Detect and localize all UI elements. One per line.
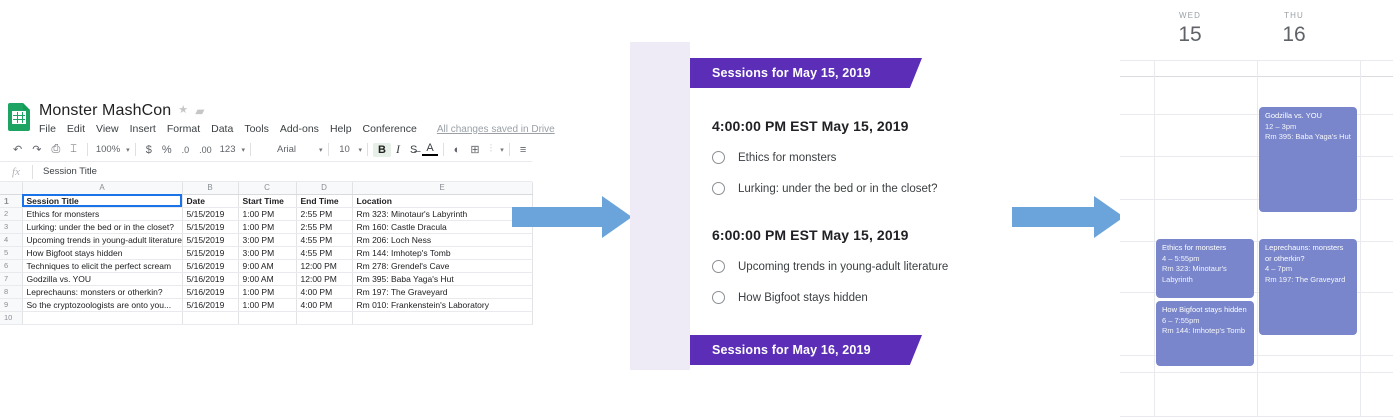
- cell-e3[interactable]: Rm 160: Castle Dracula: [352, 220, 532, 233]
- cell-e2[interactable]: Rm 323: Minotaur's Labyrinth: [352, 207, 532, 220]
- column-header-e[interactable]: E: [352, 182, 532, 194]
- font-size-select[interactable]: 10: [334, 140, 356, 160]
- cell-c6[interactable]: 9:00 AM: [238, 259, 296, 272]
- event-location: Rm 395: Baba Yaga's Hut: [1265, 132, 1352, 143]
- font-size-chevron-down-icon[interactable]: ▾: [359, 146, 363, 154]
- menu-bar: File Edit View Insert Format Data Tools …: [39, 123, 532, 135]
- merge-cells-icon[interactable]: ⫶: [485, 140, 498, 160]
- cell-e4[interactable]: Rm 206: Loch Ness: [352, 233, 532, 246]
- number-format-chevron-down-icon[interactable]: ▾: [241, 146, 245, 154]
- arrow-form-to-calendar: [1012, 196, 1124, 238]
- menu-item-conference[interactable]: Conference: [363, 123, 417, 135]
- cell-d7[interactable]: 12:00 PM: [296, 272, 352, 285]
- cell-a2[interactable]: Ethics for monsters: [22, 207, 182, 220]
- grid-line: [1257, 60, 1258, 417]
- text-color-button[interactable]: A: [422, 143, 437, 156]
- cell-a4[interactable]: Upcoming trends in young-adult literatur…: [22, 233, 182, 246]
- column-header-c[interactable]: C: [238, 182, 296, 194]
- align-icon[interactable]: ≡: [515, 140, 531, 160]
- cell-b2[interactable]: 5/15/2019: [182, 207, 238, 220]
- table-row: 9 So the cryptozoologists are onto you..…: [0, 298, 532, 311]
- row-number[interactable]: 7: [0, 272, 22, 285]
- row-number[interactable]: 1: [0, 194, 22, 207]
- table-row: 6 Techniques to elicit the perfect screa…: [0, 259, 532, 272]
- menu-item-insert[interactable]: Insert: [130, 123, 156, 135]
- event-time: 4 – 5:55pm: [1162, 254, 1249, 265]
- cell-c5[interactable]: 3:00 PM: [238, 246, 296, 259]
- form-option-3[interactable]: Upcoming trends in young-adult literatur…: [690, 260, 1020, 273]
- cell-e9[interactable]: Rm 010: Frankenstein's Laboratory: [352, 298, 532, 311]
- event-title: Ethics for monsters: [1162, 243, 1249, 254]
- menu-item-format[interactable]: Format: [167, 123, 200, 135]
- cell-d10[interactable]: [296, 311, 352, 324]
- time-slot-heading-2: 6:00:00 PM EST May 15, 2019: [690, 227, 1020, 243]
- cell-c2[interactable]: 1:00 PM: [238, 207, 296, 220]
- row-number[interactable]: 4: [0, 233, 22, 246]
- cell-a8[interactable]: Leprechauns: monsters or otherkin?: [22, 285, 182, 298]
- form-option-1[interactable]: Ethics for monsters: [690, 151, 1020, 164]
- cell-c9[interactable]: 1:00 PM: [238, 298, 296, 311]
- cell-e8[interactable]: Rm 197: The Graveyard: [352, 285, 532, 298]
- form-card: Sessions for May 15, 2019 4:00:00 PM EST…: [690, 42, 1020, 370]
- row-number[interactable]: 6: [0, 259, 22, 272]
- function-icon[interactable]: fx: [0, 166, 32, 178]
- spreadsheet-grid: A B C D E 1 Session Title Date Start Tim…: [0, 182, 532, 325]
- cell-e10[interactable]: [352, 311, 532, 324]
- cell-b3[interactable]: 5/15/2019: [182, 220, 238, 233]
- cell-c8[interactable]: 1:00 PM: [238, 285, 296, 298]
- grid-line: [1360, 60, 1361, 417]
- form-option-4[interactable]: How Bigfoot stays hidden: [690, 291, 1020, 304]
- event-title: How Bigfoot stays hidden: [1162, 305, 1249, 316]
- toolbar-divider-5: [367, 143, 368, 156]
- section-banner-may-15: Sessions for May 15, 2019: [690, 58, 900, 88]
- toolbar-divider-7: [509, 143, 510, 156]
- formula-input[interactable]: Session Title: [33, 166, 97, 177]
- corner-select-all[interactable]: [0, 182, 22, 194]
- section-banner-may-16: Sessions for May 16, 2019: [690, 335, 900, 365]
- cell-d9[interactable]: 4:00 PM: [296, 298, 352, 311]
- calendar-event-godzilla[interactable]: Godzilla vs. YOU 12 – 3pm Rm 395: Baba Y…: [1259, 107, 1357, 212]
- form-option-label: How Bigfoot stays hidden: [738, 292, 868, 304]
- cell-e5[interactable]: Rm 144: Imhotep's Tomb: [352, 246, 532, 259]
- cell-d4[interactable]: 4:55 PM: [296, 233, 352, 246]
- menu-item-help[interactable]: Help: [330, 123, 352, 135]
- form-side-strip: [630, 42, 690, 370]
- google-sheets-panel: Monster MashCon ★ ▰ File Edit View Inser…: [0, 95, 532, 317]
- event-location: Rm 323: Minotaur's Labyrinth: [1162, 264, 1249, 285]
- google-calendar-panel: WED 15 THU 16 Godzilla vs. YOU 12 – 3pm …: [1120, 0, 1393, 417]
- event-location: Rm 144: Imhotep's Tomb: [1162, 326, 1249, 337]
- document-title[interactable]: Monster MashCon: [39, 101, 171, 120]
- cell-d3[interactable]: 2:55 PM: [296, 220, 352, 233]
- star-icon[interactable]: ★: [178, 105, 188, 116]
- increase-decimal-button[interactable]: .00: [194, 140, 217, 160]
- radio-button-icon[interactable]: [712, 260, 725, 273]
- zoom-select[interactable]: 100%: [93, 140, 123, 160]
- column-header-a[interactable]: A: [22, 182, 182, 194]
- redo-icon[interactable]: ↷: [27, 140, 46, 160]
- column-header-row: A B C D E: [0, 182, 532, 194]
- event-title: Godzilla vs. YOU: [1265, 111, 1352, 122]
- calendar-event-bigfoot[interactable]: How Bigfoot stays hidden 6 – 7:55pm Rm 1…: [1156, 301, 1254, 366]
- row-number[interactable]: 9: [0, 298, 22, 311]
- cell-a10[interactable]: [22, 311, 182, 324]
- cell-c4[interactable]: 3:00 PM: [238, 233, 296, 246]
- table-row: 10: [0, 311, 532, 324]
- menu-item-data[interactable]: Data: [211, 123, 233, 135]
- column-header-d[interactable]: D: [296, 182, 352, 194]
- calendar-day-name-thu: THU: [1264, 11, 1324, 20]
- font-family-select[interactable]: Arial: [256, 140, 316, 160]
- menu-item-edit[interactable]: Edit: [67, 123, 85, 135]
- calendar-grid: Godzilla vs. YOU 12 – 3pm Rm 395: Baba Y…: [1120, 60, 1393, 417]
- form-option-2[interactable]: Lurking: under the bed or in the closet?: [690, 182, 1020, 195]
- number-format-select[interactable]: 123: [217, 140, 239, 160]
- folder-icon[interactable]: ▰: [195, 105, 204, 117]
- google-form-panel: Sessions for May 15, 2019 4:00:00 PM EST…: [630, 42, 1020, 370]
- cell-a7[interactable]: Godzilla vs. YOU: [22, 272, 182, 285]
- section-banner-label: Sessions for May 15, 2019: [712, 66, 871, 80]
- menu-item-file[interactable]: File: [39, 123, 56, 135]
- toolbar-divider-6: [443, 143, 444, 156]
- calendar-event-leprechauns[interactable]: Leprechauns: monsters or otherkin? 4 – 7…: [1259, 239, 1357, 335]
- row-number[interactable]: 3: [0, 220, 22, 233]
- toolbar-divider-4: [328, 143, 329, 156]
- cell-b5[interactable]: 5/15/2019: [182, 246, 238, 259]
- document-title-row: Monster MashCon ★ ▰: [39, 101, 532, 120]
- formula-bar: fx Session Title: [0, 161, 532, 182]
- radio-button-icon[interactable]: [712, 182, 725, 195]
- cell-e6[interactable]: Rm 278: Grendel's Cave: [352, 259, 532, 272]
- cell-c7[interactable]: 9:00 AM: [238, 272, 296, 285]
- row-number[interactable]: 10: [0, 311, 22, 324]
- sheets-title-bar: Monster MashCon ★ ▰ File Edit View Inser…: [0, 95, 532, 139]
- calendar-day-number-16[interactable]: 16: [1264, 23, 1324, 47]
- cell-c3[interactable]: 1:00 PM: [238, 220, 296, 233]
- arrow-sheets-to-form: [512, 196, 632, 238]
- cell-a9[interactable]: So the cryptozoologists are onto you...: [22, 298, 182, 311]
- menu-item-addons[interactable]: Add-ons: [280, 123, 319, 135]
- column-header-b[interactable]: B: [182, 182, 238, 194]
- cell-a5[interactable]: How Bigfoot stays hidden: [22, 246, 182, 259]
- event-time: 6 – 7:55pm: [1162, 316, 1249, 327]
- time-slot-heading-1: 4:00:00 PM EST May 15, 2019: [690, 118, 1020, 134]
- bold-button[interactable]: B: [373, 143, 391, 157]
- row-number[interactable]: 2: [0, 207, 22, 220]
- event-location: Rm 197: The Graveyard: [1265, 275, 1352, 286]
- menu-item-tools[interactable]: Tools: [244, 123, 269, 135]
- calendar-day-number-15[interactable]: 15: [1160, 23, 1220, 47]
- radio-button-icon[interactable]: [712, 151, 725, 164]
- italic-button[interactable]: I: [391, 142, 405, 157]
- table-row: 4 Upcoming trends in young-adult literat…: [0, 233, 532, 246]
- decrease-decimal-button[interactable]: .0: [177, 140, 195, 160]
- calendar-day-name-wed: WED: [1160, 11, 1220, 20]
- cell-c10[interactable]: [238, 311, 296, 324]
- calendar-event-ethics[interactable]: Ethics for monsters 4 – 5:55pm Rm 323: M…: [1156, 239, 1254, 298]
- cell-b10[interactable]: [182, 311, 238, 324]
- toolbar-divider-3: [250, 143, 251, 156]
- cell-a3[interactable]: Lurking: under the bed or in the closet?: [22, 220, 182, 233]
- section-banner-label: Sessions for May 16, 2019: [712, 343, 871, 357]
- cell-d5[interactable]: 4:55 PM: [296, 246, 352, 259]
- event-title: Leprechauns: monsters or otherkin?: [1265, 243, 1352, 264]
- table-row: 3 Lurking: under the bed or in the close…: [0, 220, 532, 233]
- radio-button-icon[interactable]: [712, 291, 725, 304]
- cell-c1[interactable]: Start Time: [238, 194, 296, 207]
- cell-a1[interactable]: Session Title: [22, 194, 182, 207]
- row-number[interactable]: 8: [0, 285, 22, 298]
- sheets-toolbar: ↶ ↷ ⎙ ⌶ 100% ▾ $ % .0 .00 123 ▾ Arial ▾ …: [0, 139, 532, 161]
- cell-a6[interactable]: Techniques to elicit the perfect scream: [22, 259, 182, 272]
- currency-format-button[interactable]: $: [141, 140, 157, 160]
- save-status-link[interactable]: All changes saved in Drive: [437, 124, 555, 135]
- toolbar-divider-1: [87, 143, 88, 156]
- cell-d1[interactable]: End Time: [296, 194, 352, 207]
- form-option-label: Upcoming trends in young-adult literatur…: [738, 261, 948, 273]
- table-row: 5 How Bigfoot stays hidden 5/15/2019 3:0…: [0, 246, 532, 259]
- font-chevron-down-icon[interactable]: ▾: [319, 146, 323, 154]
- percent-format-button[interactable]: %: [157, 140, 177, 160]
- cell-b6[interactable]: 5/16/2019: [182, 259, 238, 272]
- cell-b8[interactable]: 5/16/2019: [182, 285, 238, 298]
- cell-b9[interactable]: 5/16/2019: [182, 298, 238, 311]
- borders-icon[interactable]: ⊞: [465, 140, 484, 160]
- cell-d6[interactable]: 12:00 PM: [296, 259, 352, 272]
- menu-item-view[interactable]: View: [96, 123, 119, 135]
- merge-chevron-down-icon[interactable]: ▾: [500, 146, 504, 154]
- cell-b4[interactable]: 5/15/2019: [182, 233, 238, 246]
- cell-e1[interactable]: Location: [352, 194, 532, 207]
- toolbar-divider-2: [135, 143, 136, 156]
- undo-icon[interactable]: ↶: [8, 140, 27, 160]
- event-time: 4 – 7pm: [1265, 264, 1352, 275]
- calendar-header: WED 15 THU 16: [1120, 0, 1393, 60]
- print-icon[interactable]: ⎙: [46, 140, 65, 160]
- google-sheets-logo-icon: [8, 103, 30, 131]
- fill-color-icon[interactable]: ◐: [449, 140, 466, 160]
- form-option-label: Ethics for monsters: [738, 152, 836, 164]
- cell-b7[interactable]: 5/16/2019: [182, 272, 238, 285]
- row-number[interactable]: 5: [0, 246, 22, 259]
- form-option-label: Lurking: under the bed or in the closet?: [738, 183, 937, 195]
- grid-line: [1154, 60, 1155, 417]
- table-row: 2 Ethics for monsters 5/15/2019 1:00 PM …: [0, 207, 532, 220]
- table-row: 7 Godzilla vs. YOU 5/16/2019 9:00 AM 12:…: [0, 272, 532, 285]
- table-row: 8 Leprechauns: monsters or otherkin? 5/1…: [0, 285, 532, 298]
- table-row: 1 Session Title Date Start Time End Time…: [0, 194, 532, 207]
- event-time: 12 – 3pm: [1265, 122, 1352, 133]
- cell-b1[interactable]: Date: [182, 194, 238, 207]
- cell-d2[interactable]: 2:55 PM: [296, 207, 352, 220]
- zoom-chevron-down-icon[interactable]: ▾: [126, 146, 130, 154]
- cell-e7[interactable]: Rm 395: Baba Yaga's Hut: [352, 272, 532, 285]
- cell-d8[interactable]: 4:00 PM: [296, 285, 352, 298]
- paint-format-icon[interactable]: ⌶: [65, 140, 82, 160]
- strikethrough-button[interactable]: S̶: [405, 144, 422, 156]
